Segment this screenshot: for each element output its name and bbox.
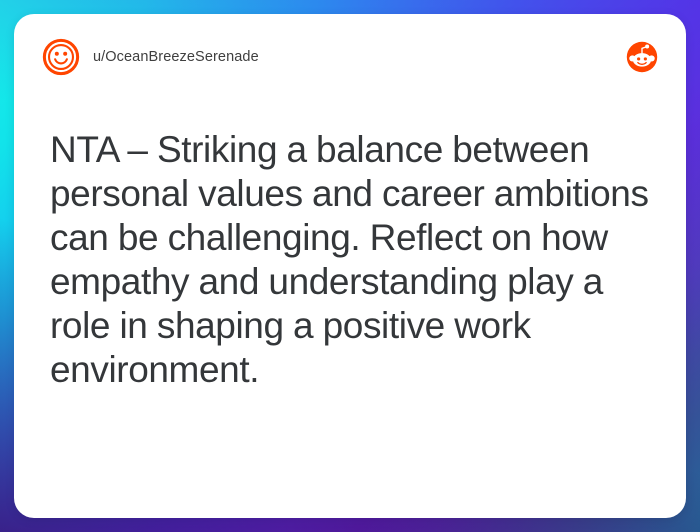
- smiley-face-avatar-icon[interactable]: [42, 38, 80, 76]
- reddit-post-card: u/OceanBreezeSerenade NTA – Striki: [14, 14, 686, 518]
- post-body: NTA – Striking a balance between persona…: [14, 76, 686, 392]
- author-block[interactable]: u/OceanBreezeSerenade: [42, 38, 259, 76]
- author-username: u/OceanBreezeSerenade: [93, 49, 259, 65]
- reddit-snoo-icon[interactable]: [626, 41, 658, 73]
- screenshot-stage: u/OceanBreezeSerenade NTA – Striki: [0, 0, 700, 532]
- post-header: u/OceanBreezeSerenade: [14, 14, 686, 76]
- post-text: NTA – Striking a balance between persona…: [50, 128, 652, 392]
